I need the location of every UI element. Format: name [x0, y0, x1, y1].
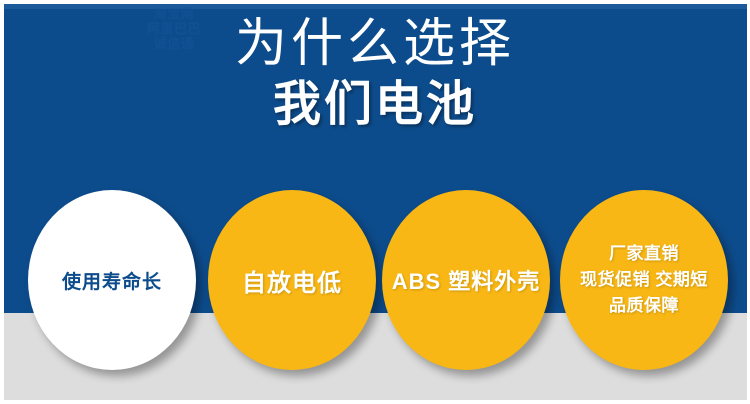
feature-label-factory-direct-line-1: 厂家直销: [580, 241, 708, 267]
promo-banner: 淘宝网 阿里巴巴 诚信通 为什么选择 我们电池 使用寿命长 自放电低 ABS 塑…: [0, 0, 750, 404]
feature-circle-factory-direct: 厂家直销 现货促销 交期短 品质保障: [560, 190, 728, 370]
feature-circle-row: 使用寿命长 自放电低 ABS 塑料外壳 厂家直销 现货促销 交期短 品质保障: [4, 190, 747, 370]
feature-circle-abs-plastic-case: ABS 塑料外壳: [382, 190, 550, 370]
feature-label-low-self-discharge: 自放电低: [234, 263, 350, 298]
feature-label-factory-direct-line-2: 现货促销 交期短: [580, 267, 708, 293]
feature-label-abs-plastic-case: ABS 塑料外壳: [384, 264, 549, 296]
headline-line-1: 为什么选择: [0, 14, 750, 74]
feature-circle-long-service-life: 使用寿命长: [28, 190, 196, 370]
feature-circle-low-self-discharge: 自放电低: [208, 190, 376, 370]
page-title: 为什么选择 我们电池: [0, 14, 750, 136]
feature-label-factory-direct-line-3: 品质保障: [580, 293, 708, 319]
feature-label-factory-direct: 厂家直销 现货促销 交期短 品质保障: [572, 241, 716, 319]
blue-band-top-highlight: [4, 4, 747, 9]
headline-line-2: 我们电池: [0, 74, 750, 136]
feature-label-long-service-life: 使用寿命长: [54, 267, 170, 294]
